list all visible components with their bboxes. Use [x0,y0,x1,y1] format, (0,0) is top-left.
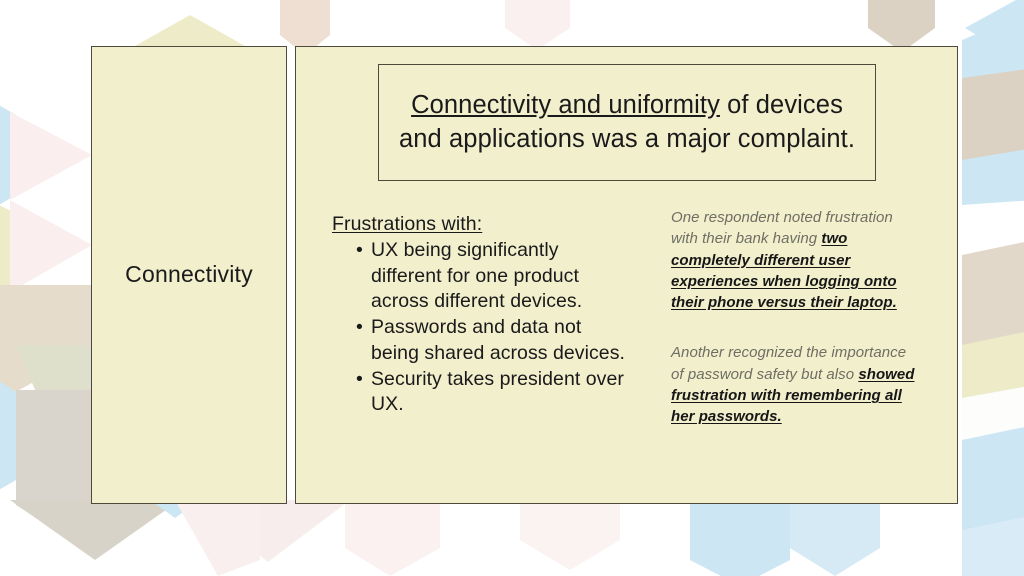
headline-emphasis: Connectivity and uniformity [411,91,720,119]
decor-shape-pink-bottom-right2 [175,500,260,576]
section-title: Connectivity [125,261,253,289]
list-item-text: Security takes president over UX. [371,368,624,416]
decor-shape-pink-bottom [188,500,350,562]
respondent-quote: Another recognized the importance of pas… [671,342,919,427]
decor-shape-blue-bottom-right [690,500,790,576]
decor-shape-pink-bottom-mid [520,500,620,570]
list-item-text: Passwords and data not being shared acro… [371,316,625,364]
headline-text: Connectivity and uniformity of devices a… [389,89,865,157]
slide-canvas: Connectivity Connectivity and uniformity… [0,0,1024,576]
list-item: •Security takes president over UX. [326,367,626,418]
list-item: •UX being significantly different for on… [326,238,626,315]
decor-shape-tan-top [868,0,935,52]
decor-shape-cream-left [0,200,18,315]
decor-shape-gray-left-bottom [16,390,92,530]
decor-shape-white-right-2 [962,385,1024,445]
decor-shape-pink-left-upper [10,112,92,200]
left-section-panel: Connectivity [91,46,287,504]
decor-shape-cream-right [962,330,1024,405]
decor-shape-tan-left [0,285,92,395]
bullet-dot-icon: • [356,367,363,393]
decor-shape-pink-top [505,0,570,50]
decor-shape-green-left [16,345,92,425]
headline-box: Connectivity and uniformity of devices a… [378,64,876,181]
bullet-dot-icon: • [356,315,363,341]
decor-shape-white-right [962,200,1024,262]
decor-shape-tan-right-1 [962,68,1024,165]
decor-shape-gray-bottom-left [10,500,180,560]
decor-shape-tan-right-2 [962,240,1024,350]
quotes-column: One respondent noted frustration with th… [671,207,919,428]
frustrations-heading: Frustrations with: [332,213,626,236]
content-panel: Connectivity and uniformity of devices a… [295,46,958,504]
decor-shape-blue-topright [965,0,1024,70]
decor-shape-blue-right-4 [962,515,1024,576]
respondent-quote: One respondent noted frustration with th… [671,207,919,313]
list-item: •Passwords and data not being shared acr… [326,315,626,366]
list-item-text: UX being significantly different for one… [371,239,582,312]
decor-shape-blue-right-3 [962,425,1024,535]
decor-shape-blue-right-1 [962,10,1024,95]
bullet-dot-icon: • [356,238,363,264]
frustrations-column: Frustrations with: •UX being significant… [326,213,626,418]
decor-shape-blue-left-lower [0,375,16,495]
frustrations-list: •UX being significantly different for on… [326,238,626,418]
quote-lead-text: One respondent noted frustration with th… [671,209,893,247]
decor-shape-blue-left-upper [0,100,16,210]
decor-shape-pink-bottom-right [345,500,440,576]
decor-shape-pink-left-lower [10,200,92,292]
decor-shape-blue-right-2 [962,148,1024,218]
decor-shape-blue-bottom-right2 [790,500,880,576]
